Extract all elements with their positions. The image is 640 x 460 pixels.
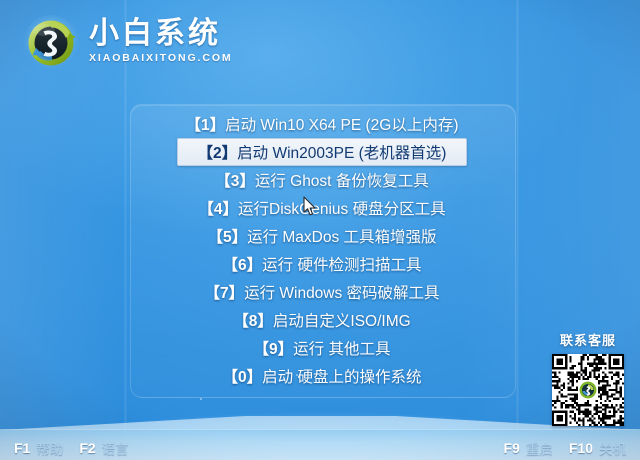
boot-menu-item-7[interactable]: 【7】运行 Windows 密码破解工具 <box>142 278 502 306</box>
status-key-label-f1: 帮助 <box>36 438 63 458</box>
boot-menu-item-label: 运行 Ghost 备份恢复工具 <box>255 169 429 191</box>
boot-menu-item-label: 启动 Win10 X64 PE (2G以上内存) <box>225 113 458 135</box>
boot-menu-item-6[interactable]: 【6】运行 硬件检测扫描工具 <box>142 250 502 278</box>
boot-menu-item-label: 启动 硬盘上的操作系统 <box>262 365 421 387</box>
status-bar-left-keys: F1帮助F2语言 <box>14 438 139 458</box>
status-bar-right-keys: F9重启F10关机 <box>504 438 626 458</box>
boot-menu-item-label: 运行 硬件检测扫描工具 <box>262 253 421 275</box>
contact-support-title: 联系客服 <box>546 330 630 349</box>
boot-menu-item-8[interactable]: 【8】启动自定义ISO/IMG <box>142 306 502 334</box>
boot-menu-item-key: 【3】 <box>215 169 255 191</box>
boot-menu-item-5[interactable]: 【5】运行 MaxDos 工具箱增强版 <box>142 222 502 250</box>
boot-menu-item-key: 【0】 <box>223 365 263 387</box>
brand-text: 小白系统 XIAOBAIXITONG.COM <box>89 14 233 65</box>
boot-menu-item-key: 【2】 <box>198 141 238 163</box>
boot-menu-item-label: 运行 其他工具 <box>293 337 390 359</box>
boot-menu-item-9[interactable]: 【9】运行 其他工具 <box>142 334 502 362</box>
boot-menu-item-key: 【9】 <box>254 337 294 359</box>
status-key-label-f9: 重启 <box>526 438 553 458</box>
boot-menu-item-1[interactable]: 【1】启动 Win10 X64 PE (2G以上内存) <box>142 110 502 138</box>
boot-menu-item-label: 启动 Win2003PE (老机器首选) <box>237 141 446 163</box>
status-key-label-f10: 关机 <box>599 438 626 458</box>
boot-menu-item-key: 【7】 <box>204 281 244 303</box>
qr-code-icon[interactable] <box>552 354 624 426</box>
status-key-f9[interactable]: F9 <box>504 440 520 456</box>
recycle-circle-logo-icon <box>22 14 80 72</box>
boot-menu-screen: 小白系统 XIAOBAIXITONG.COM 【1】启动 Win10 X64 P… <box>0 0 640 460</box>
status-key-f10[interactable]: F10 <box>569 440 593 456</box>
brand-title: 小白系统 <box>89 18 233 50</box>
boot-menu-item-label: 启动自定义ISO/IMG <box>273 309 411 331</box>
boot-menu-item-4[interactable]: 【4】运行DiskGenius 硬盘分区工具 <box>142 194 502 222</box>
boot-menu-item-key: 【6】 <box>223 253 263 275</box>
boot-menu-item-label: 运行 Windows 密码破解工具 <box>244 281 440 303</box>
qr-center-logo-icon <box>579 381 598 400</box>
boot-menu-item-key: 【5】 <box>207 225 247 247</box>
boot-menu-item-key: 【8】 <box>233 309 273 331</box>
boot-menu-list: 【1】启动 Win10 X64 PE (2G以上内存)【2】启动 Win2003… <box>130 104 514 390</box>
brand-subtitle: XIAOBAIXITONG.COM <box>89 51 233 65</box>
boot-menu-item-3[interactable]: 【3】运行 Ghost 备份恢复工具 <box>142 166 502 194</box>
boot-menu-item-2[interactable]: 【2】启动 Win2003PE (老机器首选) <box>177 138 467 166</box>
contact-support-block: 联系客服 <box>546 330 630 426</box>
status-key-f1[interactable]: F1 <box>14 440 30 456</box>
status-key-label-f2: 语言 <box>102 438 129 458</box>
status-bar: F1帮助F2语言 F9重启F10关机 <box>0 434 640 460</box>
boot-menu-item-10[interactable]: 【0】启动 硬盘上的操作系统 <box>142 362 502 390</box>
boot-menu-item-label: 运行DiskGenius 硬盘分区工具 <box>238 197 446 219</box>
brand-logo: 小白系统 XIAOBAIXITONG.COM <box>22 14 233 72</box>
boot-menu-item-key: 【1】 <box>185 113 225 135</box>
boot-menu-item-label: 运行 MaxDos 工具箱增强版 <box>247 225 436 247</box>
boot-menu-item-key: 【4】 <box>198 197 238 219</box>
status-key-f2[interactable]: F2 <box>79 440 95 456</box>
